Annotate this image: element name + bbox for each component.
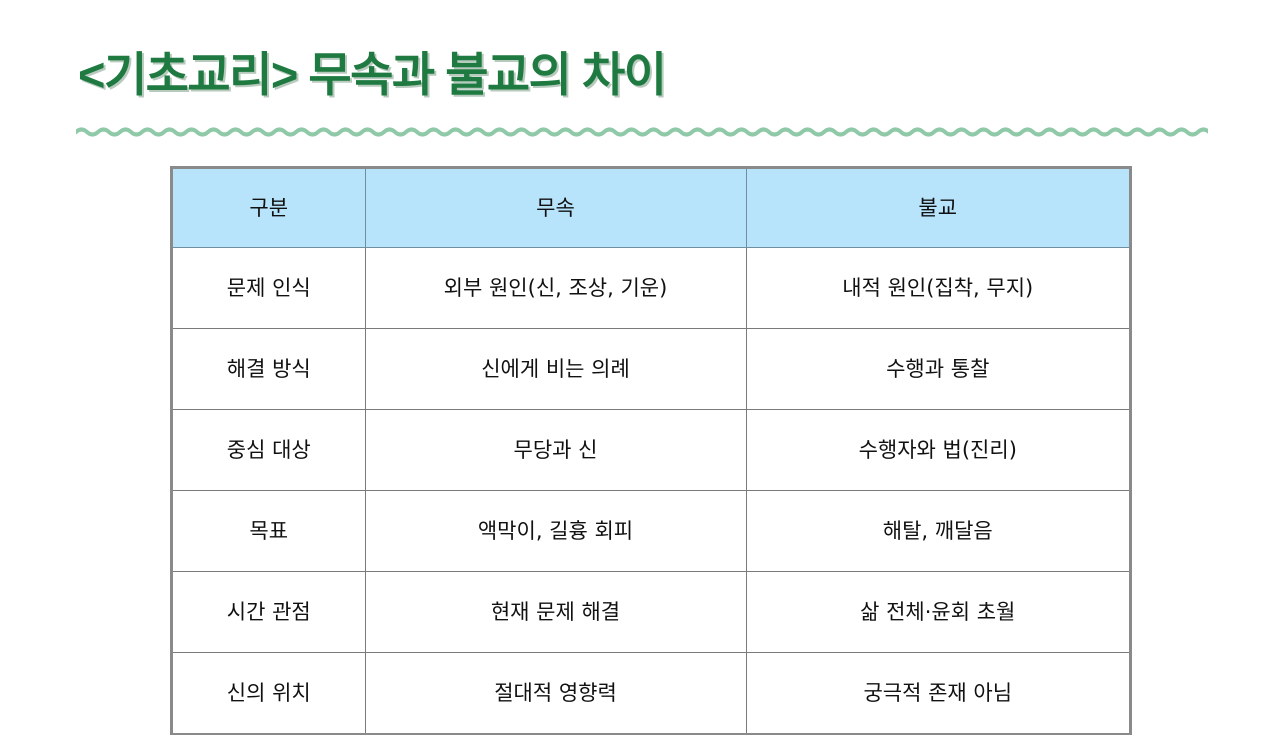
cell-musok: 현재 문제 해결 xyxy=(365,572,746,653)
cell-bulgyo: 수행과 통찰 xyxy=(746,329,1130,410)
cell-musok: 외부 원인(신, 조상, 기운) xyxy=(365,248,746,329)
table-row: 목표 액막이, 길흉 회피 해탈, 깨달음 xyxy=(172,491,1130,572)
cell-musok: 절대적 영향력 xyxy=(365,653,746,735)
comparison-table: 구분 무속 불교 문제 인식 외부 원인(신, 조상, 기운) 내적 원인(집착… xyxy=(171,167,1131,735)
table-row: 해결 방식 신에게 비는 의례 수행과 통찰 xyxy=(172,329,1130,410)
slide-canvas: <기초교리> 무속과 불교의 차이 구분 무속 불교 문제 xyxy=(0,0,1280,720)
table-row: 문제 인식 외부 원인(신, 조상, 기운) 내적 원인(집착, 무지) xyxy=(172,248,1130,329)
wavy-line-divider-icon xyxy=(76,120,1208,144)
row-label: 문제 인식 xyxy=(172,248,365,329)
row-label: 시간 관점 xyxy=(172,572,365,653)
column-header-category: 구분 xyxy=(172,168,365,248)
column-header-musok: 무속 xyxy=(365,168,746,248)
cell-musok: 무당과 신 xyxy=(365,410,746,491)
table-row: 신의 위치 절대적 영향력 궁극적 존재 아님 xyxy=(172,653,1130,735)
cell-musok: 액막이, 길흉 회피 xyxy=(365,491,746,572)
row-label: 목표 xyxy=(172,491,365,572)
page-title: <기초교리> 무속과 불교의 차이 xyxy=(78,44,1208,106)
table-header: 구분 무속 불교 xyxy=(172,168,1130,248)
table-row: 시간 관점 현재 문제 해결 삶 전체·윤회 초월 xyxy=(172,572,1130,653)
cell-bulgyo: 내적 원인(집착, 무지) xyxy=(746,248,1130,329)
comparison-table-container: 구분 무속 불교 문제 인식 외부 원인(신, 조상, 기운) 내적 원인(집착… xyxy=(171,167,1129,735)
table-body: 문제 인식 외부 원인(신, 조상, 기운) 내적 원인(집착, 무지) 해결 … xyxy=(172,248,1130,735)
cell-musok: 신에게 비는 의례 xyxy=(365,329,746,410)
row-label: 중심 대상 xyxy=(172,410,365,491)
cell-bulgyo: 삶 전체·윤회 초월 xyxy=(746,572,1130,653)
cell-bulgyo: 궁극적 존재 아님 xyxy=(746,653,1130,735)
row-label: 신의 위치 xyxy=(172,653,365,735)
row-label: 해결 방식 xyxy=(172,329,365,410)
cell-bulgyo: 수행자와 법(진리) xyxy=(746,410,1130,491)
cell-bulgyo: 해탈, 깨달음 xyxy=(746,491,1130,572)
column-header-bulgyo: 불교 xyxy=(746,168,1130,248)
table-header-row: 구분 무속 불교 xyxy=(172,168,1130,248)
table-row: 중심 대상 무당과 신 수행자와 법(진리) xyxy=(172,410,1130,491)
